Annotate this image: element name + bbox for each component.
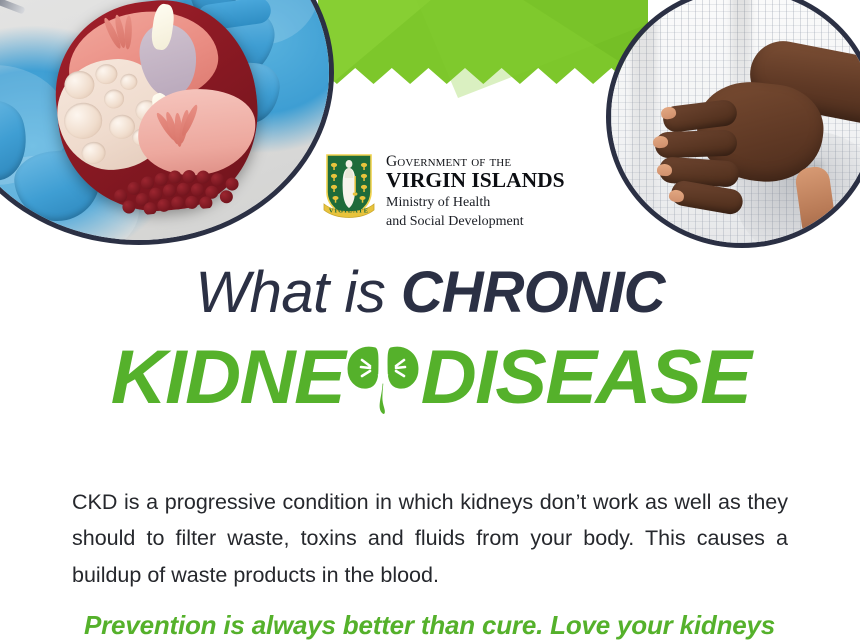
headline-line-1: What is CHRONIC xyxy=(0,264,860,322)
sawtooth-shape xyxy=(318,0,648,102)
back-pain-photo xyxy=(611,0,860,243)
headline-kidne: KIDNE xyxy=(111,342,345,413)
svg-text:VIGILATE: VIGILATE xyxy=(329,208,369,215)
logo-line-ministry: Ministry of Health xyxy=(386,195,565,211)
body-paragraph: CKD is a progressive condition in which … xyxy=(72,484,788,595)
poster-canvas: VIGILATE Government of the VIRGIN ISLAND… xyxy=(0,0,860,640)
tagline-text: Prevention is always better than cure. L… xyxy=(84,610,804,640)
headline-chronic: CHRONIC xyxy=(401,260,665,325)
green-sawtooth-banner xyxy=(318,0,648,102)
logo-line-virgin-islands: VIRGIN ISLANDS xyxy=(386,170,565,192)
headline-line-2: KIDNE DISEASE xyxy=(0,335,860,421)
kidney-pair-icon xyxy=(340,336,426,424)
headline-disease: DISEASE xyxy=(421,342,751,413)
logo-text-block: Government of the VIRGIN ISLANDS Ministr… xyxy=(386,152,565,230)
kidney-model-photo-circle xyxy=(0,0,334,245)
logo-line-department: and Social Development xyxy=(386,214,565,230)
headline-what-is: What is xyxy=(195,260,401,325)
coat-of-arms-icon: VIGILATE xyxy=(322,152,376,222)
kidney-model-photo xyxy=(0,0,329,240)
government-logo: VIGILATE Government of the VIRGIN ISLAND… xyxy=(322,152,542,224)
back-pain-photo-circle xyxy=(606,0,860,248)
